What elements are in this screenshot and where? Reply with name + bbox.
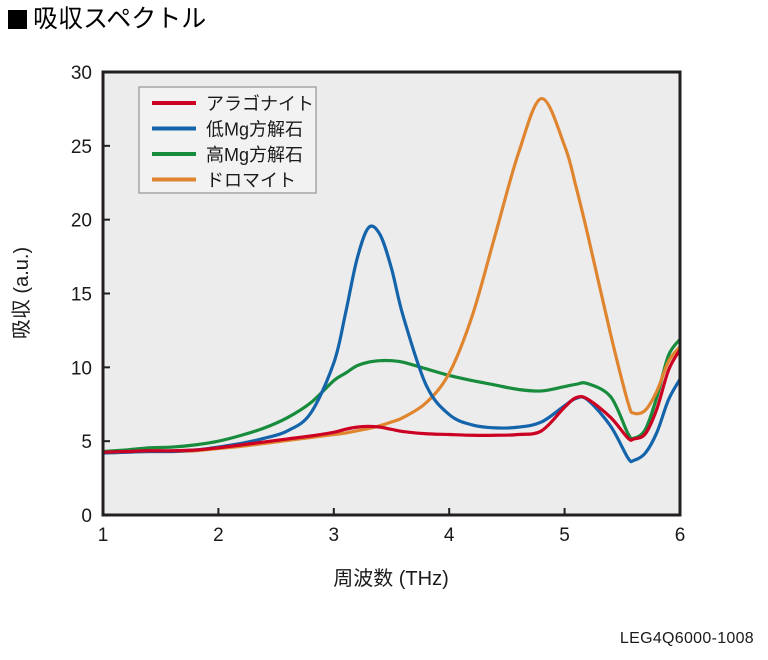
absorption-spectrum-chart: 123456 051015202530 周波数 (THz) 吸収 (a.u.) … [0, 55, 768, 615]
black-square-icon [8, 10, 27, 29]
x-tick-label: 5 [559, 525, 570, 546]
document-code: LEG4Q6000-1008 [620, 630, 754, 648]
page-title-text: 吸収スペクトル [33, 4, 206, 34]
x-axis-title: 周波数 (THz) [333, 567, 449, 590]
y-tick-label: 15 [71, 285, 92, 306]
legend-label-dolomite: ドロマイト [206, 171, 296, 191]
y-tick-label: 30 [71, 63, 92, 84]
chart-legend[interactable]: アラゴナイト低Mg方解石高Mg方解石ドロマイト [139, 87, 316, 193]
y-tick-label: 5 [81, 432, 92, 453]
y-axis-title: 吸収 (a.u.) [10, 247, 33, 339]
y-tick-label: 0 [81, 506, 92, 527]
y-tick-label: 20 [71, 211, 92, 232]
x-tick-label: 3 [329, 525, 340, 546]
x-tick-label: 2 [213, 525, 224, 546]
y-tick-label: 25 [71, 137, 92, 158]
x-tick-label: 1 [98, 525, 109, 546]
legend-label-high_mg_calcite: 高Mg方解石 [206, 145, 303, 165]
legend-label-low_mg_calcite: 低Mg方解石 [206, 120, 303, 140]
chart-canvas: 123456 051015202530 周波数 (THz) 吸収 (a.u.) … [0, 55, 768, 615]
x-tick-label: 4 [444, 525, 455, 546]
y-tick-label: 10 [71, 358, 92, 379]
page-title: 吸収スペクトル [8, 4, 206, 34]
legend-label-aragonite: アラゴナイト [206, 94, 314, 114]
x-tick-label: 6 [675, 525, 686, 546]
